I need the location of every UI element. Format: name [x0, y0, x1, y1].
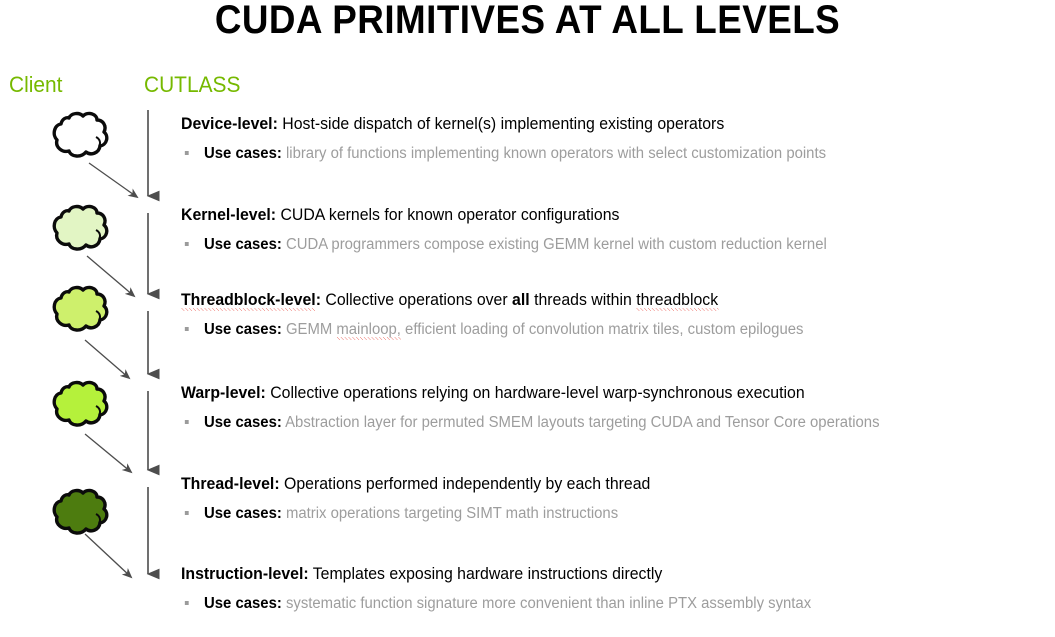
use-cases-label: Use cases:	[204, 414, 282, 431]
level-usecase-instruction: Use cases: systematic function signature…	[181, 594, 811, 613]
level-usecase-warp: Use cases: Abstraction layer for permute…	[181, 413, 880, 432]
column-header-cutlass: CUTLASS	[144, 72, 240, 98]
level-block-device: Device-level: Host-side dispatch of kern…	[181, 114, 853, 163]
arrow-diagonal-5	[85, 534, 131, 577]
level-usecase-kernel: Use cases: CUDA programmers compose exis…	[181, 235, 827, 254]
level-block-thread: Thread-level: Operations performed indep…	[181, 474, 670, 523]
level-term-warp: Warp-level	[181, 384, 261, 402]
use-cases-label: Use cases:	[204, 505, 282, 522]
level-block-threadblock: Threadblock-level: Collective operations…	[181, 290, 829, 339]
level-term-instruction: Instruction-level	[181, 565, 303, 583]
level-headline-threadblock: Threadblock-level: Collective operations…	[181, 290, 803, 310]
cloud-warp	[52, 379, 110, 431]
level-term-threadblock: Threadblock-level	[181, 291, 316, 313]
arrow-diagonal-4	[85, 434, 131, 472]
use-cases-text: matrix operations targeting SIMT math in…	[286, 505, 618, 522]
use-cases-text: systematic function signature more conve…	[286, 595, 811, 612]
arrow-diagonal-1	[89, 163, 137, 197]
level-usecase-threadblock: Use cases: GEMM mainloop, efficient load…	[181, 320, 803, 339]
level-term-kernel: Kernel-level	[181, 206, 271, 224]
use-cases-text: Abstraction layer for permuted SMEM layo…	[285, 414, 879, 431]
level-headline-text-threadblock: Collective operations over all threads w…	[325, 291, 718, 311]
use-cases-text: CUDA programmers compose existing GEMM k…	[286, 236, 827, 253]
cloud-kernel	[52, 203, 110, 255]
bullet-icon	[185, 151, 189, 155]
bullet-icon	[185, 601, 189, 605]
level-term-device: Device-level	[181, 115, 273, 133]
use-cases-text: GEMM mainloop, efficient loading of conv…	[286, 321, 804, 340]
use-cases-label: Use cases:	[204, 236, 282, 253]
bullet-icon	[185, 242, 189, 246]
level-headline-thread: Thread-level: Operations performed indep…	[181, 474, 650, 494]
slide-canvas: CUDA PRIMITIVES AT ALL LEVELS Client CUT…	[0, 0, 1055, 637]
level-headline-device: Device-level: Host-side dispatch of kern…	[181, 114, 826, 134]
level-headline-warp: Warp-level: Collective operations relyin…	[181, 383, 880, 403]
use-cases-label: Use cases:	[204, 321, 282, 338]
level-block-instruction: Instruction-level: Templates exposing ha…	[181, 564, 837, 613]
use-cases-label: Use cases:	[204, 145, 282, 162]
page-title: CUDA PRIMITIVES AT ALL LEVELS	[42, 0, 1013, 43]
level-block-warp: Warp-level: Collective operations relyin…	[181, 383, 909, 432]
column-header-client: Client	[9, 72, 62, 98]
level-headline-text-instruction: Templates exposing hardware instructions…	[313, 565, 663, 583]
cloud-threadblock	[52, 284, 110, 336]
misspelled-word: mainloop,	[336, 321, 401, 340]
level-block-kernel: Kernel-level: CUDA kernels for known ope…	[181, 205, 854, 254]
use-cases-text: library of functions implementing known …	[286, 145, 826, 162]
cloud-device	[52, 110, 110, 162]
level-usecase-device: Use cases: library of functions implemen…	[181, 144, 826, 163]
level-headline-kernel: Kernel-level: CUDA kernels for known ope…	[181, 205, 827, 225]
level-term-thread: Thread-level	[181, 475, 274, 493]
bullet-icon	[185, 511, 189, 515]
level-headline-instruction: Instruction-level: Templates exposing ha…	[181, 564, 811, 584]
level-headline-text-device: Host-side dispatch of kernel(s) implemen…	[282, 115, 724, 133]
use-cases-label: Use cases:	[204, 595, 282, 612]
level-headline-text-warp: Collective operations relying on hardwar…	[270, 384, 804, 402]
cloud-thread	[52, 487, 110, 539]
bullet-icon	[185, 420, 189, 424]
level-headline-text-thread: Operations performed independently by ea…	[284, 475, 650, 493]
bullet-icon	[185, 327, 189, 331]
level-usecase-thread: Use cases: matrix operations targeting S…	[181, 504, 650, 523]
misspelled-word: threadblock	[636, 291, 718, 311]
level-headline-text-kernel: CUDA kernels for known operator configur…	[280, 206, 619, 224]
arrow-diagonal-3	[85, 340, 129, 378]
